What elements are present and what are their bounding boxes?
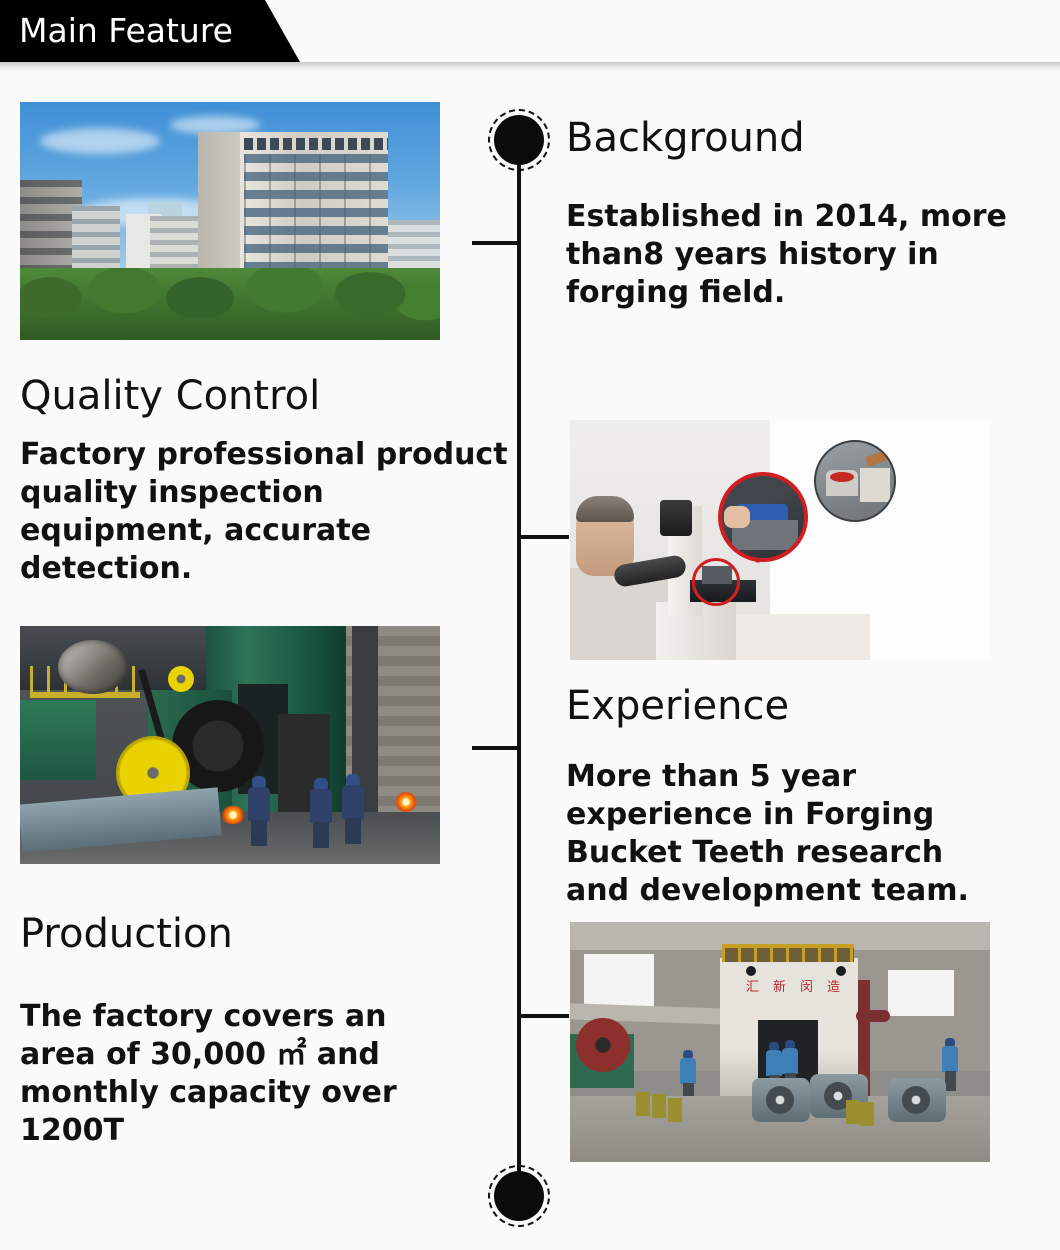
oil-drum: [846, 1100, 860, 1124]
section-body-experience: More than 5 year experience in Forging B…: [566, 758, 1016, 910]
building-window-grid: [244, 154, 388, 284]
timeline-vertical-line: [517, 140, 521, 1196]
steel-coil: [58, 640, 128, 694]
timeline-branch-left-1: [472, 241, 521, 245]
section-body-production: The factory covers an area of 30,000 ㎡ a…: [20, 998, 450, 1150]
press-label-char: 造: [827, 980, 840, 996]
timeline-end-dot-icon: [494, 1171, 544, 1221]
red-flywheel: [576, 1018, 630, 1072]
section-heading-experience: Experience: [566, 682, 789, 730]
building-top-band: [244, 138, 388, 150]
section-heading-background: Background: [566, 114, 805, 162]
press-label-char: 汇: [746, 980, 759, 996]
page-title: Main Feature: [19, 9, 233, 53]
header-banner: Main Feature: [0, 0, 1060, 62]
press-label-char: 新: [773, 980, 786, 996]
photo-forging-press: [20, 626, 440, 864]
hot-billet-glow: [220, 806, 246, 824]
inspector-hair: [576, 496, 634, 522]
oil-drum: [636, 1092, 650, 1116]
photo-office-building: [20, 102, 440, 340]
red-pipe-elbow: [856, 1010, 890, 1022]
industrial-fan: [888, 1078, 946, 1122]
timeline-start-dot-icon: [494, 115, 544, 165]
section-heading-quality-control: Quality Control: [20, 372, 320, 420]
section-heading-production: Production: [20, 910, 233, 958]
red-highlight-circle-icon: [692, 558, 740, 606]
hot-billet-glow: [394, 792, 418, 812]
banner-shadow-divider: [0, 62, 1060, 71]
photo-workshop: 汇 新 闵 造: [570, 922, 990, 1162]
detail-callout-circle-2: [814, 440, 896, 522]
press-port-icon: [746, 966, 756, 976]
photo-quality-inspection: [570, 420, 990, 660]
oil-drum: [668, 1098, 682, 1122]
main-feature-infographic: Main Feature: [0, 0, 1060, 1250]
section-body-quality-control: Factory professional product quality ins…: [20, 436, 520, 588]
oil-drum: [652, 1094, 666, 1118]
microscope-camera: [660, 500, 692, 536]
timeline-branch-right-2: [519, 1014, 569, 1018]
cloud-shape: [40, 128, 160, 154]
oil-drum: [860, 1102, 874, 1126]
press-port-icon: [836, 966, 846, 976]
press-chinese-label: 汇 新 闵 造: [746, 980, 840, 996]
timeline-branch-left-2: [472, 746, 521, 750]
small-yellow-pulley: [168, 666, 194, 692]
window-right: [888, 970, 954, 1016]
press-top-platform: [722, 944, 854, 962]
section-body-background: Established in 2014, more than8 years hi…: [566, 198, 1026, 312]
industrial-fan: [752, 1078, 810, 1122]
timeline-branch-right-1: [519, 535, 569, 539]
detail-callout-circle-1: [718, 472, 808, 562]
green-machine-left: [20, 700, 96, 780]
tree-line: [20, 268, 440, 340]
press-label-char: 闵: [800, 980, 813, 996]
